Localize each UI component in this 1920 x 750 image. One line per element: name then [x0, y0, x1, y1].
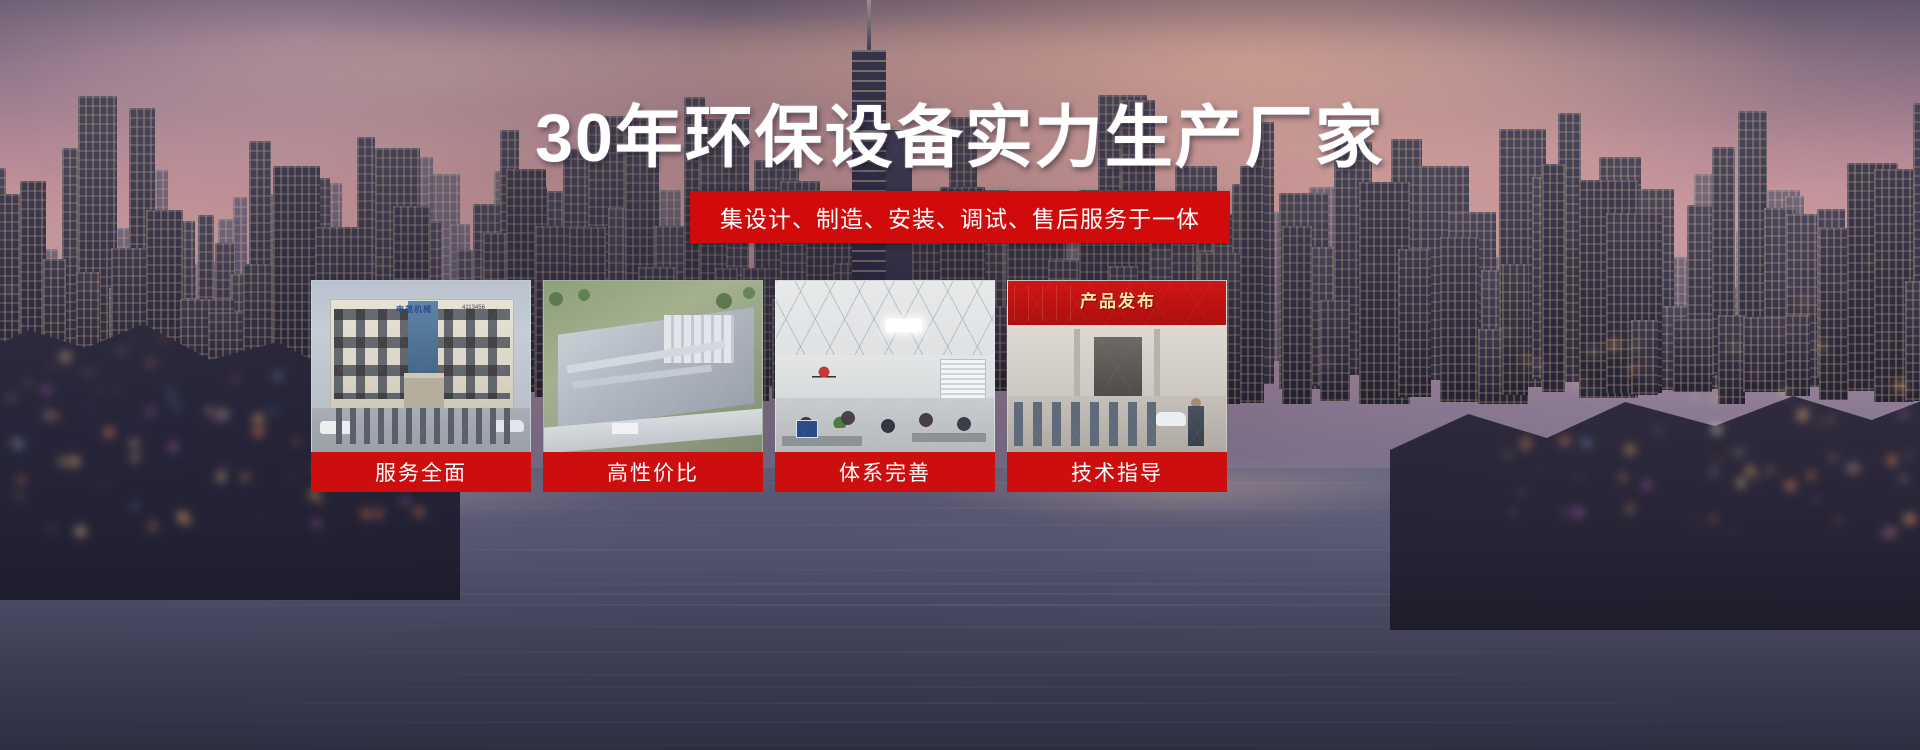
card-photo-workshop: 产品发布	[1007, 280, 1227, 452]
ceiling-light	[886, 319, 922, 332]
building-entrance	[404, 373, 444, 413]
worker-row	[1014, 402, 1164, 446]
building-sign-label: 申荿机械	[396, 304, 432, 315]
plant-truck	[612, 423, 638, 434]
feature-card-list: 申荿机械 4113456 服务全面	[311, 280, 1227, 492]
card-label: 服务全面	[311, 452, 531, 492]
computer-monitor	[796, 420, 818, 438]
feature-card[interactable]: 体系完善	[775, 280, 995, 492]
feature-card[interactable]: 高性价比	[543, 280, 763, 492]
card-label: 体系完善	[775, 452, 995, 492]
wall-logo-icon	[812, 365, 836, 385]
subtitle-badge: 集设计、制造、安装、调试、售后服务于一体	[690, 191, 1230, 243]
supervisor	[1188, 406, 1204, 446]
workshop-door	[1094, 337, 1142, 399]
building-sign-number: 4113456	[462, 305, 485, 311]
plant-trees	[544, 281, 763, 317]
card-photo-headquarters: 申荿机械 4113456	[311, 280, 531, 452]
hero-banner: 30年环保设备实力生产厂家 集设计、制造、安装、调试、售后服务于一体 申荿机械 …	[0, 0, 1920, 750]
staff-row	[336, 408, 512, 444]
feature-card[interactable]: 申荿机械 4113456 服务全面	[311, 280, 531, 492]
workshop-banner-text: 产品发布	[1008, 287, 1227, 312]
page-title: 30年环保设备实力生产厂家	[0, 104, 1920, 172]
banner-content: 30年环保设备实力生产厂家 集设计、制造、安装、调试、售后服务于一体 申荿机械 …	[0, 0, 1920, 750]
workshop-column	[1154, 329, 1160, 399]
card-label: 技术指导	[1007, 452, 1227, 492]
workshop-column	[1074, 329, 1080, 399]
feature-card[interactable]: 产品发布 技术指导	[1007, 280, 1227, 492]
window-blinds	[940, 359, 986, 403]
card-photo-plant	[543, 280, 763, 452]
card-label: 高性价比	[543, 452, 763, 492]
card-photo-office	[775, 280, 995, 452]
